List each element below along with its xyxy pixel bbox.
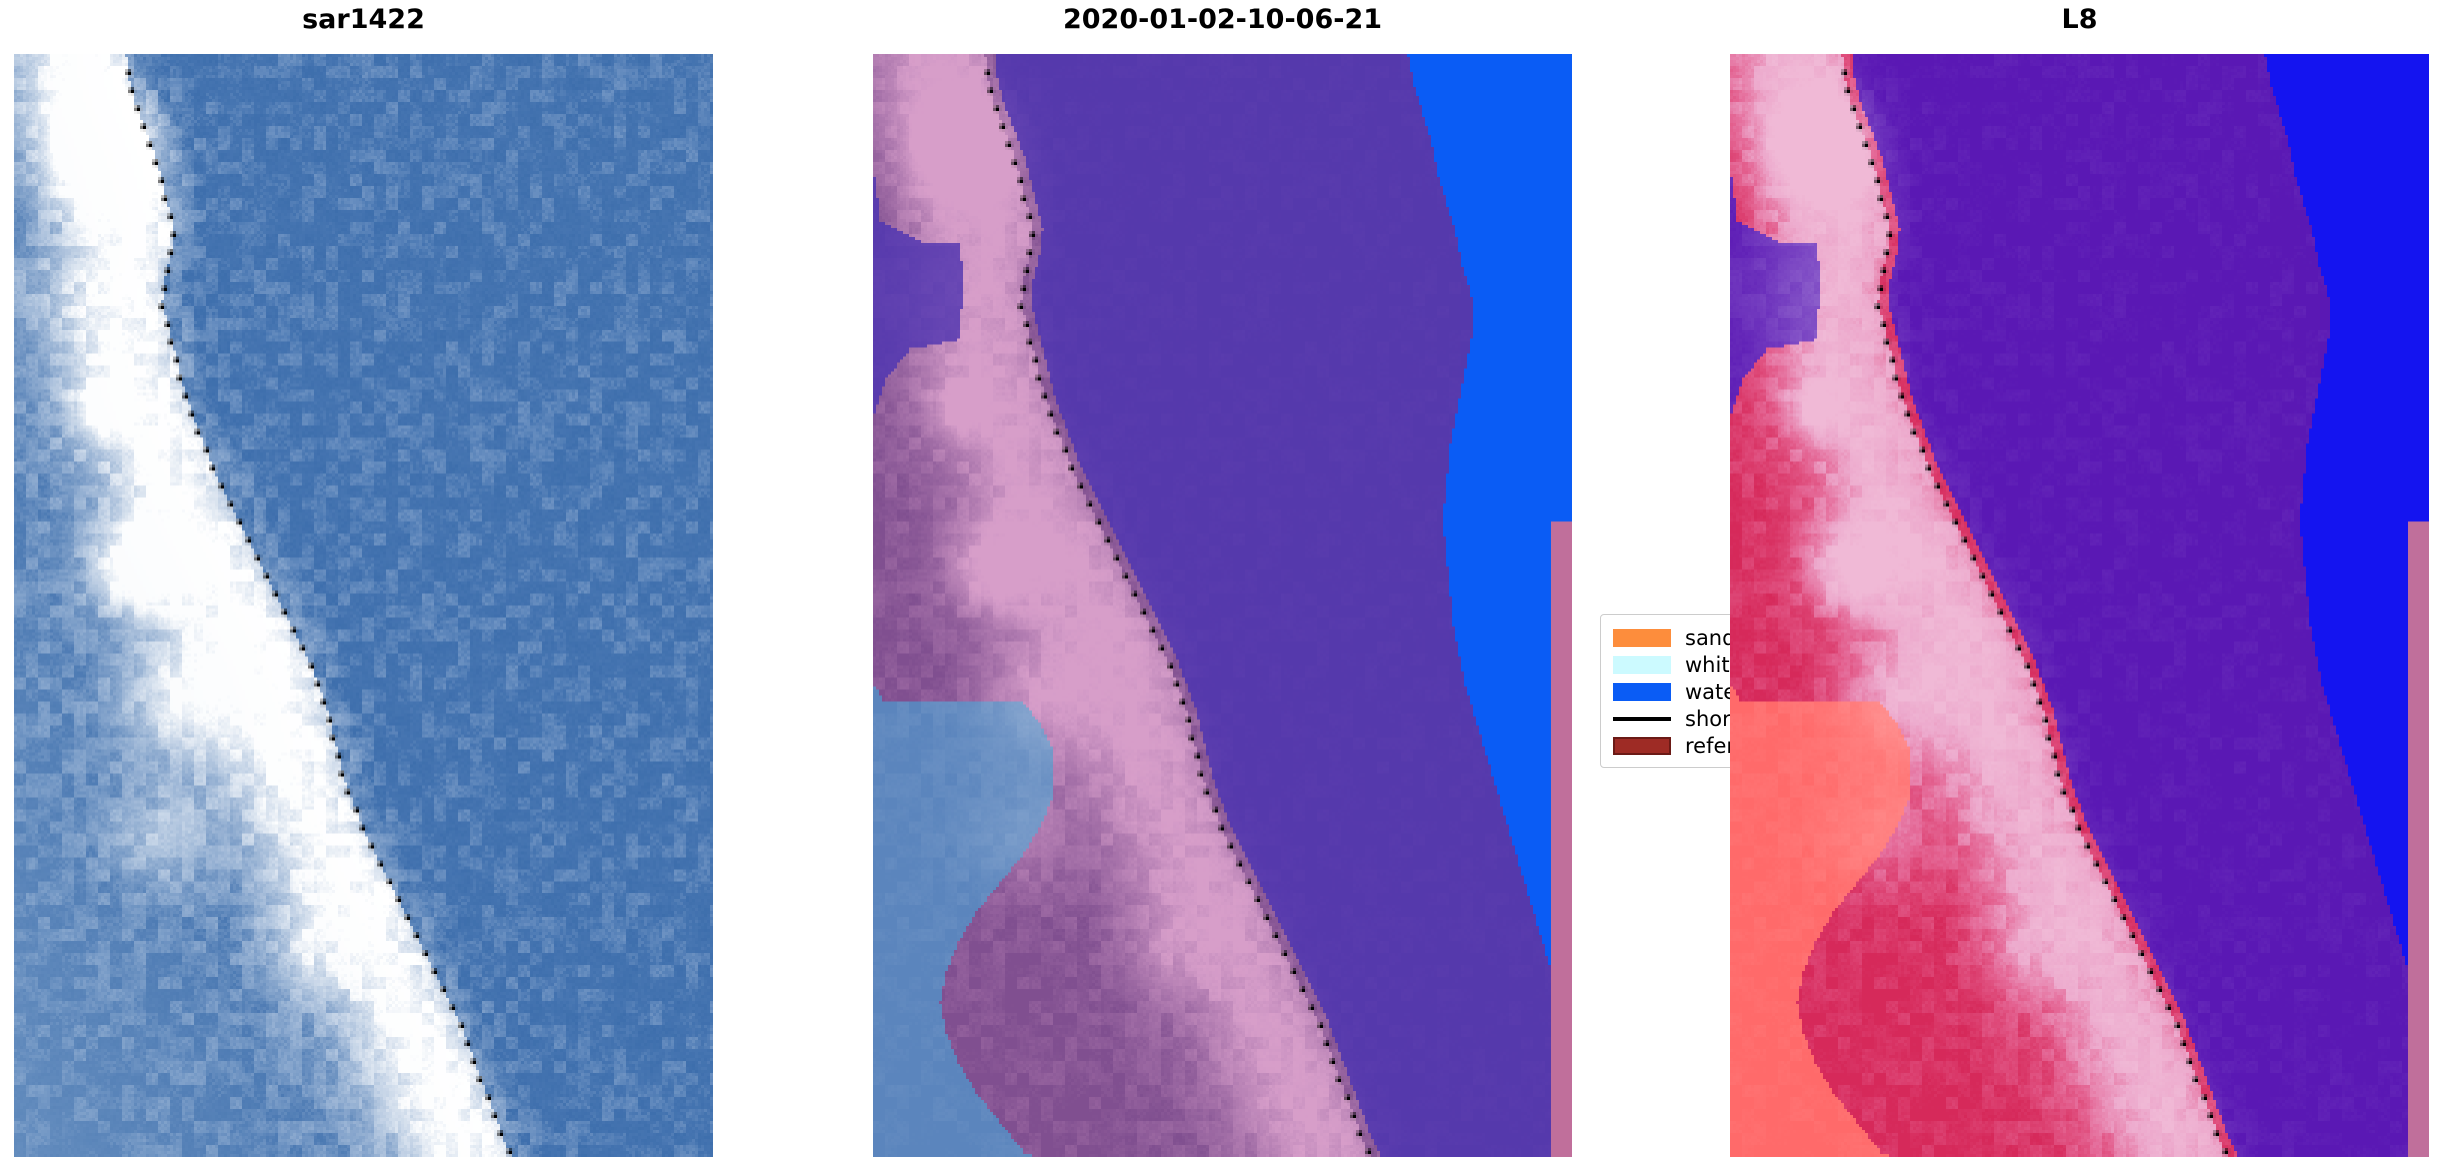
panel-classified-image [873,54,1572,1157]
panel-title-classified: 2020-01-02-10-06-21 [873,4,1572,36]
panel-title-l8: L8 [1730,4,2429,36]
legend-label-sand: sand [1685,627,1735,649]
shoreline-line-icon [1613,717,1671,721]
panel-sar-image [14,54,713,1157]
panel-l8-image [1730,54,2429,1157]
water-swatch-icon [1613,683,1671,701]
panel-title-sar: sar1422 [14,4,713,36]
whitewater-swatch-icon [1613,656,1671,674]
sand-swatch-icon [1613,629,1671,647]
reference-shoreline-swatch-icon [1613,737,1671,755]
figure-canvas: sar1422 2020-01-02-10-06-21 sand whitewa… [0,0,2460,1174]
